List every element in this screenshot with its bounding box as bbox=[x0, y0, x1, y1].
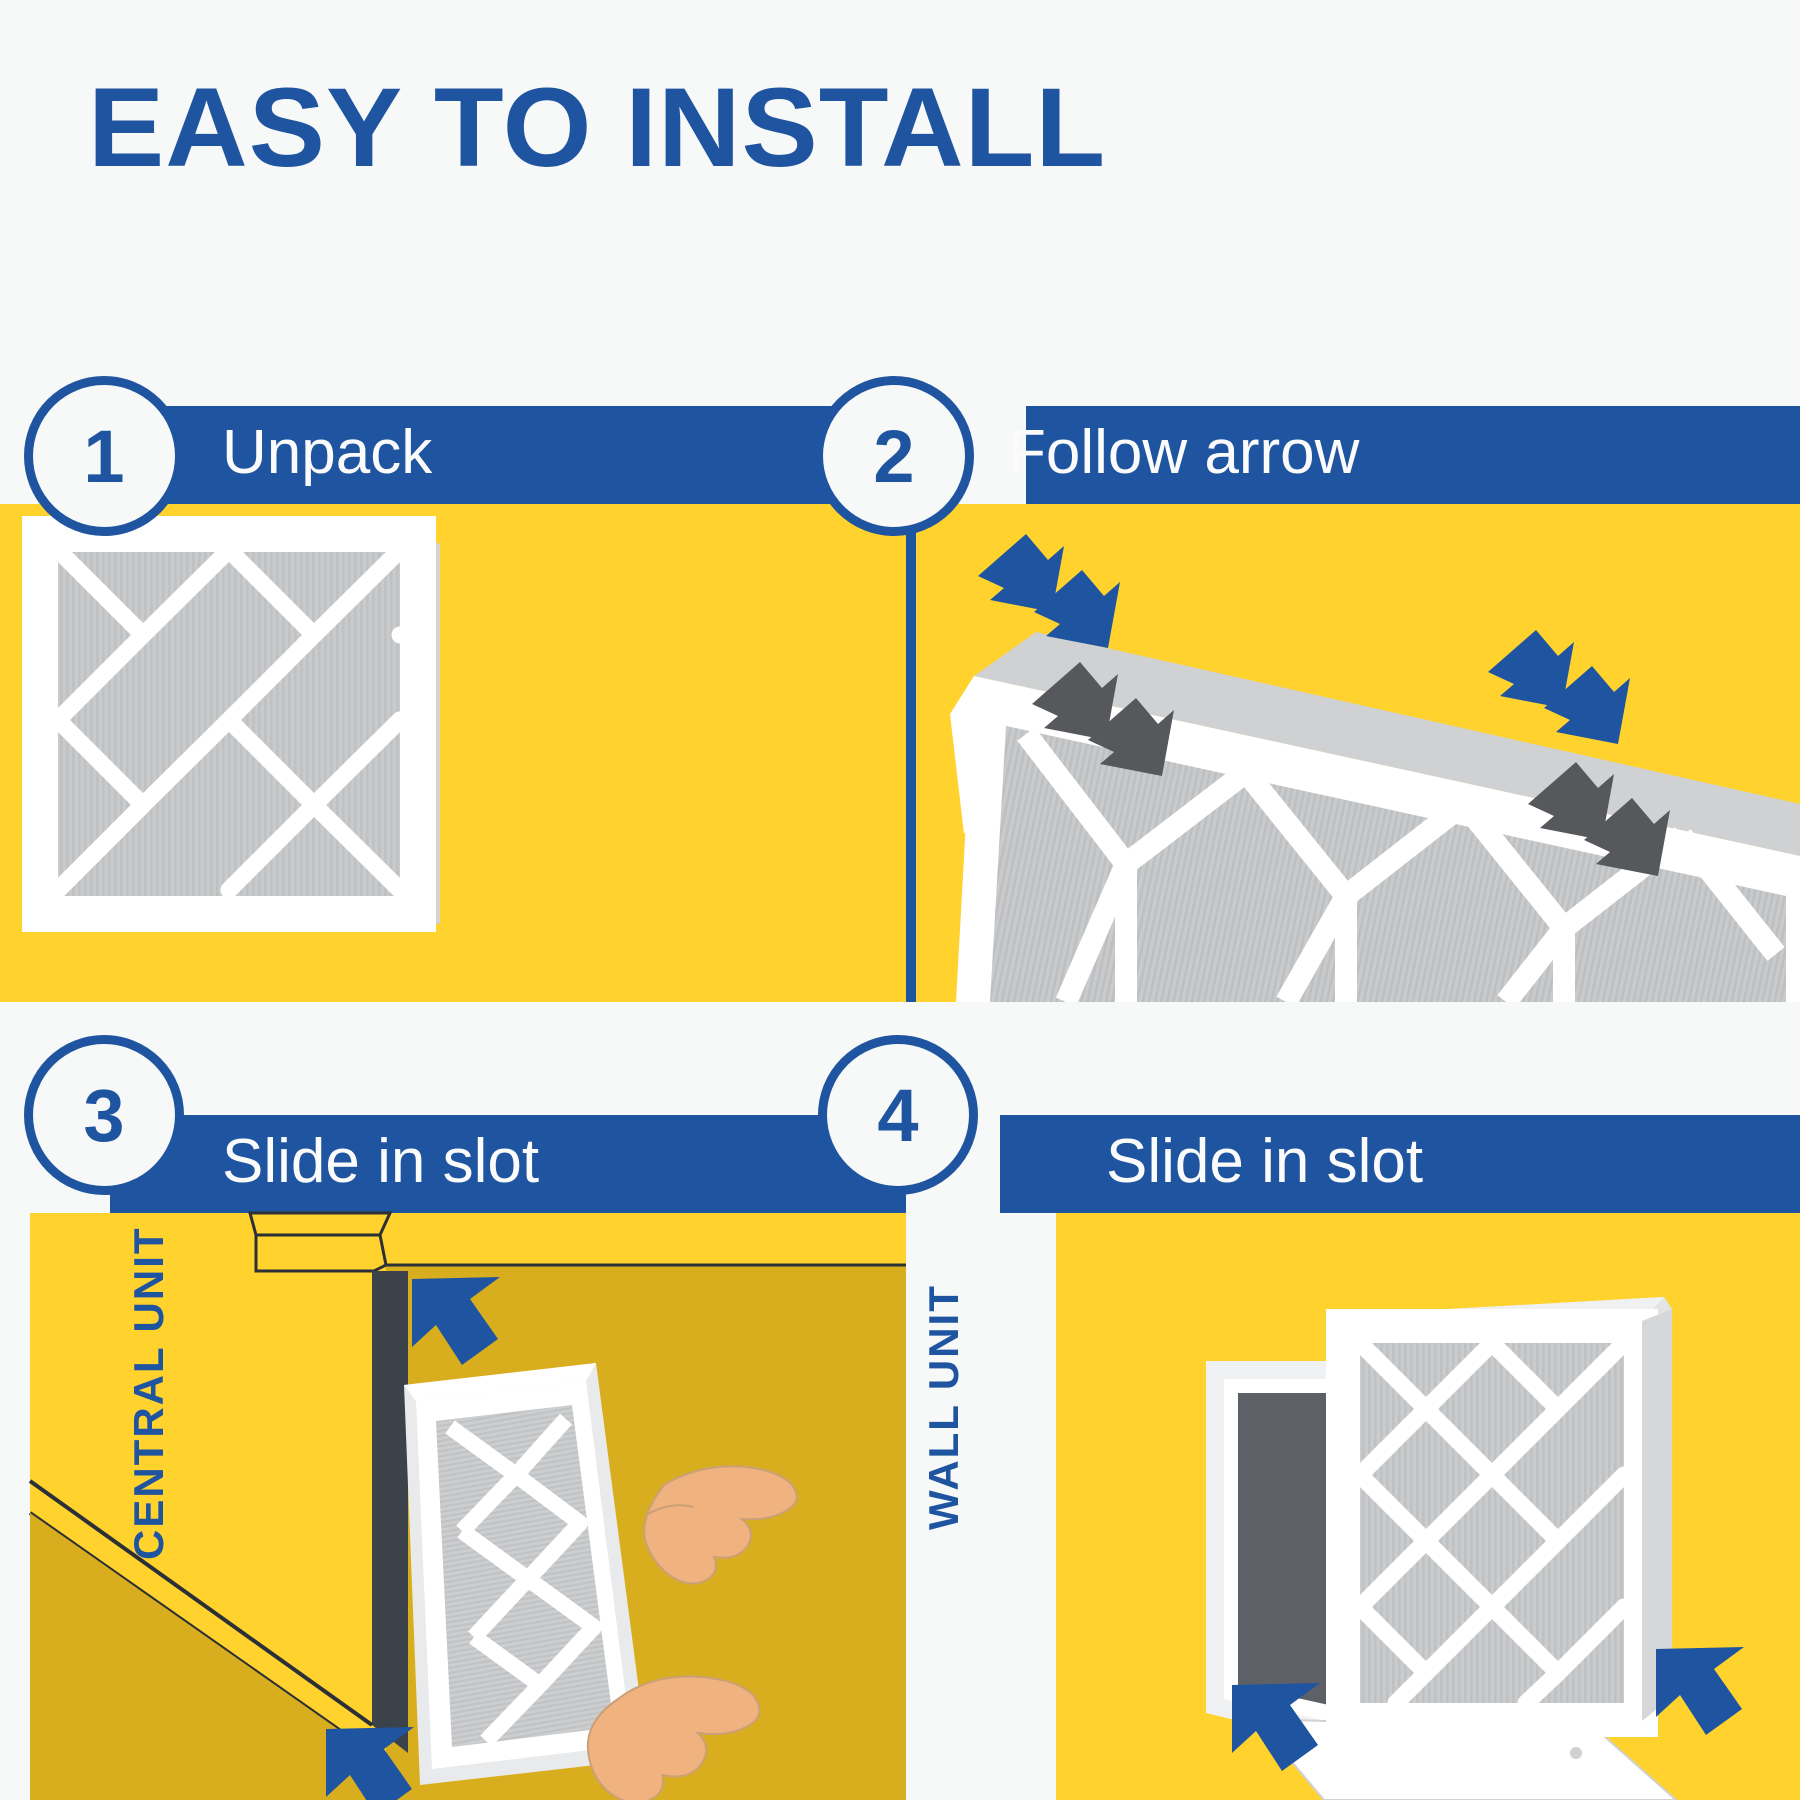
step-number-circle-4: 4 bbox=[818, 1035, 978, 1195]
step-number-3: 3 bbox=[83, 1073, 124, 1158]
side-label-wall-unit: WALL UNIT bbox=[920, 1284, 968, 1530]
step-number-circle-2: 2 bbox=[814, 376, 974, 536]
panel-4-header-label: Slide in slot bbox=[1106, 1131, 1423, 1193]
side-label-central-unit: CENTRAL UNIT bbox=[125, 1226, 173, 1560]
step-number-1: 1 bbox=[83, 414, 124, 499]
step-number-4: 4 bbox=[877, 1073, 918, 1158]
step-number-circle-3: 3 bbox=[24, 1035, 184, 1195]
filter-in-wall-vent bbox=[1342, 1297, 1672, 1721]
step-number-circle-1: 1 bbox=[24, 376, 184, 536]
panel-1-header-label: Unpack bbox=[222, 422, 432, 484]
step-number-2: 2 bbox=[873, 414, 914, 499]
page-title: EASY TO INSTALL bbox=[88, 72, 1106, 184]
step-panel-4: Slide in slot bbox=[916, 1002, 1800, 1800]
panel-4-illustration bbox=[1056, 1213, 1800, 1800]
infographic-root: EASY TO INSTALL Unpack bbox=[0, 0, 1800, 1800]
airflow-arrow-blue-right bbox=[1488, 630, 1630, 744]
panel-2-header-label: Follow arrow bbox=[1008, 422, 1359, 484]
airflow-arrow-blue-left bbox=[978, 534, 1120, 648]
panel-3-header-label: Slide in slot bbox=[222, 1131, 539, 1193]
panel-2-illustration bbox=[916, 504, 1800, 1002]
panel-1-illustration bbox=[0, 504, 906, 1002]
step-panel-2: Follow arrow bbox=[916, 380, 1800, 1002]
